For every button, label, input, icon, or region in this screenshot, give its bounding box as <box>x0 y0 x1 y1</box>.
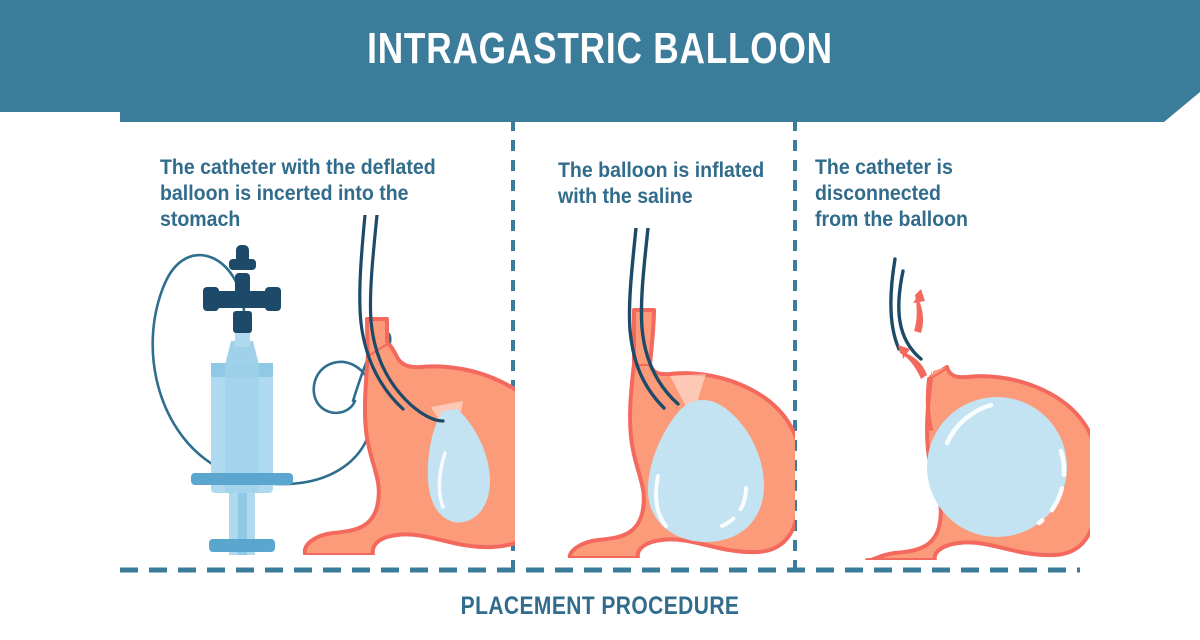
syringe-thumbpad <box>209 539 275 552</box>
balloon-inflated-round <box>927 397 1067 537</box>
step-3-illustration <box>855 245 1090 560</box>
footer-title: PLACEMENT PROCEDURE <box>96 592 1104 621</box>
step-3-caption: The catheter is disconnected from the ba… <box>815 155 1066 233</box>
arrow-up-1 <box>913 289 925 333</box>
stomach-step-3 <box>867 367 1090 560</box>
intragastric-balloon-infographic: INTRAGASTRIC BALLOON The catheter with t… <box>0 0 1200 640</box>
page-title: INTRAGASTRIC BALLOON <box>120 26 1080 72</box>
step-2-caption: The balloon is inflated with the saline <box>558 158 772 210</box>
syringe <box>191 245 293 555</box>
stomach-step-1 <box>305 319 515 555</box>
syringe-flange <box>191 473 293 485</box>
step-2-illustration <box>560 228 795 558</box>
stomach-step-2 <box>570 310 795 558</box>
step-1-illustration <box>125 215 515 555</box>
header-band: INTRAGASTRIC BALLOON <box>0 0 1200 120</box>
